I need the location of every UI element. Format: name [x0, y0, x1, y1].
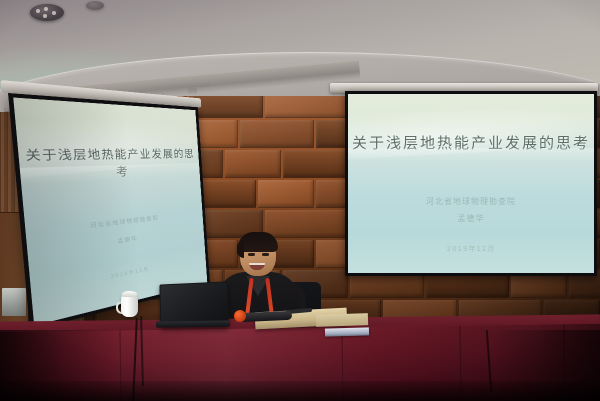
right-slide-organization: 河北省地球物理勘查院	[348, 196, 594, 207]
wood-block	[265, 96, 348, 118]
papers-stack-secondary[interactable]	[316, 313, 368, 327]
wood-block	[225, 150, 281, 178]
right-slide-author: 孟德华	[348, 213, 594, 224]
right-slide-date: 2019年12月	[348, 244, 594, 254]
ceiling-light-icon	[30, 4, 64, 21]
microphone-windscreen	[234, 310, 246, 322]
teacup-lid[interactable]	[122, 291, 137, 297]
conference-room-photo: 关于浅层地热能产业发展的思考 河北省地球物理勘查院 孟德华 2019年12月 关…	[0, 0, 600, 401]
foreground-shadow	[0, 381, 600, 401]
hair-sideburn	[237, 241, 244, 258]
ceiling-light-secondary-icon	[86, 1, 104, 10]
right-projection-screen[interactable]: 关于浅层地热能产业发展的思考 河北省地球物理勘查院 孟德华 2019年12月	[345, 91, 597, 276]
teacup[interactable]	[121, 295, 138, 317]
right-slide-title: 关于浅层地热能产业发展的思考	[348, 132, 594, 153]
booklet[interactable]	[325, 327, 369, 336]
laptop-base[interactable]	[156, 320, 230, 327]
left-slide-title: 关于浅层地热能产业发展的思考	[18, 144, 200, 184]
right-slide-surface: 关于浅层地热能产业发展的思考 河北省地球物理勘查院 孟德华 2019年12月	[348, 94, 594, 273]
floor-box	[2, 288, 26, 316]
wood-block	[283, 150, 348, 178]
wood-block	[240, 120, 314, 148]
hair	[238, 232, 278, 252]
wood-block	[258, 180, 314, 208]
